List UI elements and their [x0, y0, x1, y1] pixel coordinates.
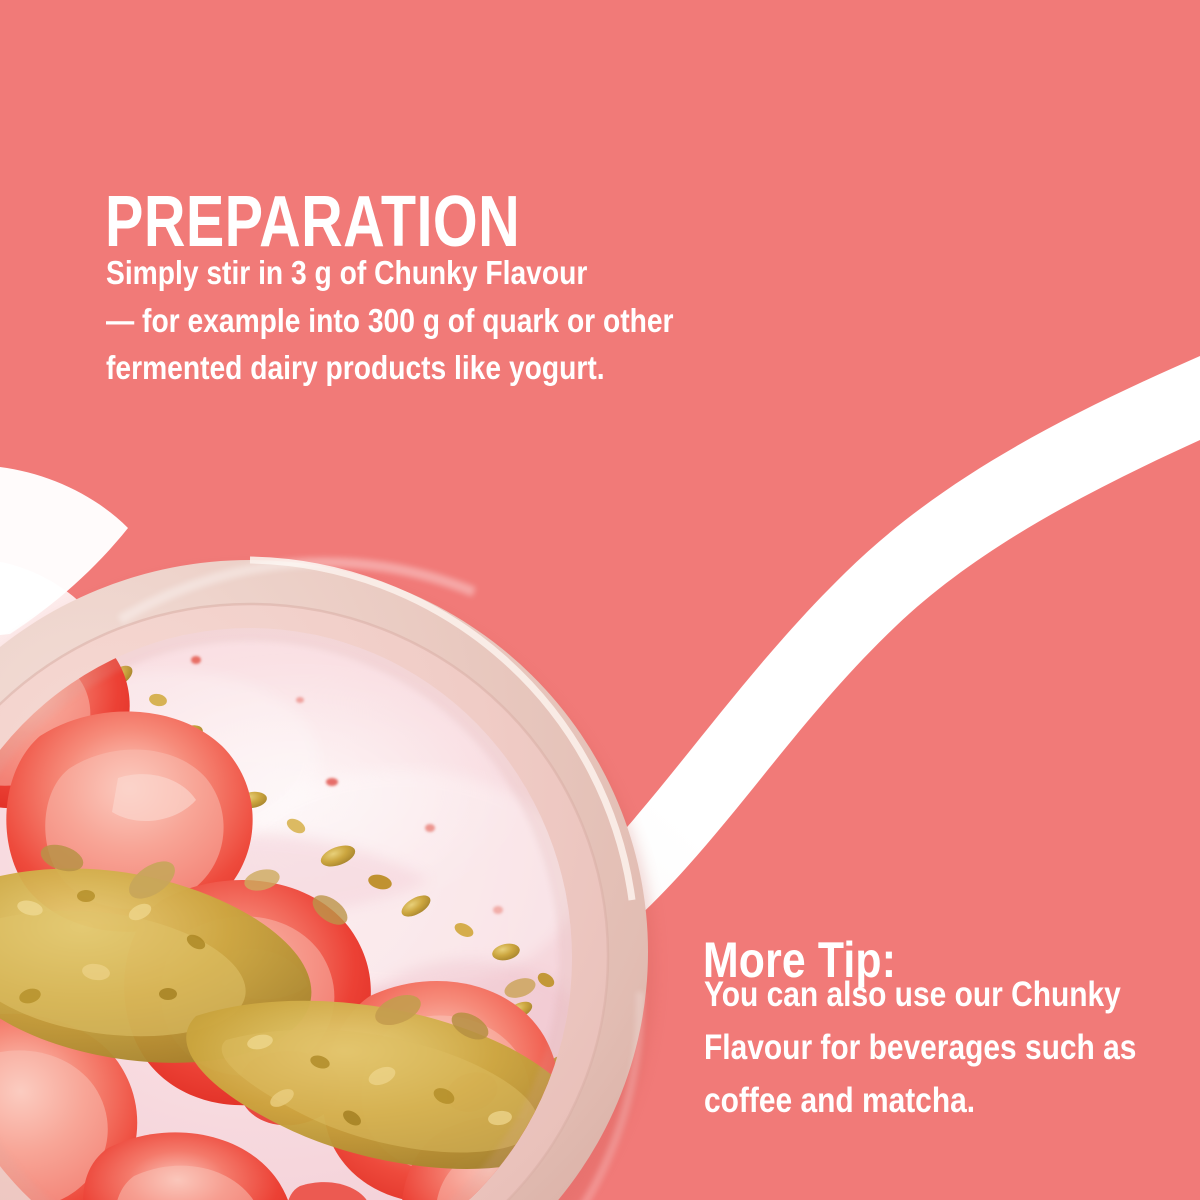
more-tip-line-2: Flavour for beverages such as [704, 1021, 1200, 1074]
more-tip-line-3: coffee and matcha. [704, 1074, 1200, 1127]
preparation-line-1: Simply stir in 3 g of Chunky Flavour [106, 249, 944, 297]
preparation-line-2: — for example into 300 g of quark or oth… [106, 297, 944, 345]
preparation-description: Simply stir in 3 g of Chunky Flavour — f… [106, 249, 944, 392]
more-tip-description: You can also use our Chunky Flavour for … [704, 968, 1200, 1128]
yogurt-bowl [0, 560, 656, 1200]
page-title: PREPARATION [105, 188, 520, 256]
product-graphic-canvas: PREPARATION Simply stir in 3 g of Chunky… [0, 0, 1200, 1200]
more-tip-line-1: You can also use our Chunky [704, 968, 1200, 1021]
preparation-line-3: fermented dairy products like yogurt. [106, 344, 944, 392]
